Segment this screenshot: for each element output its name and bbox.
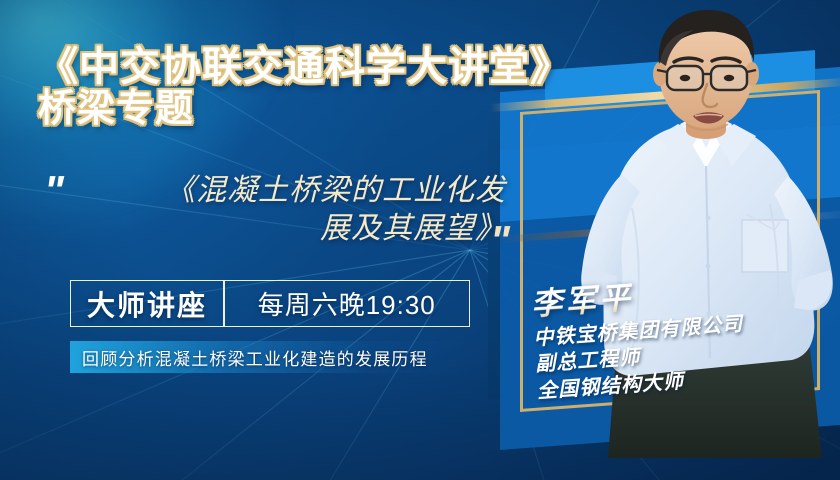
program-title-line2: 桥梁专题 (38, 89, 598, 130)
program-title-line1: 《中交协联交通科学大讲堂》 (38, 46, 598, 89)
lecture-poster: 《中交协联交通科学大讲堂》 桥梁专题 " 《混凝土桥梁的工业化发 展及其展望》 … (0, 0, 840, 480)
program-title: 《中交协联交通科学大讲堂》 桥梁专题 (38, 46, 598, 130)
speaker-info: 李军平 中铁宝桥集团有限公司 副总工程师 全国钢结构大师 (530, 267, 837, 405)
schedule-time: 每周六晚19:30 (225, 285, 470, 322)
tagline-text: 回顾分析混凝土桥梁工业化建造的发展历程 (70, 345, 428, 370)
lecture-title: 《混凝土桥梁的工业化发 展及其展望》 (86, 172, 506, 249)
lecture-title-line2: 展及其展望》 (86, 210, 506, 248)
schedule-box: 大师讲座 每周六晚19:30 (70, 280, 470, 327)
tagline-bar: 回顾分析混凝土桥梁工业化建造的发展历程 (70, 341, 470, 373)
quote-close-icon: " (490, 220, 510, 262)
lecture-title-line1: 《混凝土桥梁的工业化发 (86, 172, 506, 210)
quote-open-icon: " (44, 170, 64, 212)
lecture-title-block: " 《混凝土桥梁的工业化发 展及其展望》 " (38, 168, 528, 268)
schedule-label: 大师讲座 (71, 284, 223, 324)
